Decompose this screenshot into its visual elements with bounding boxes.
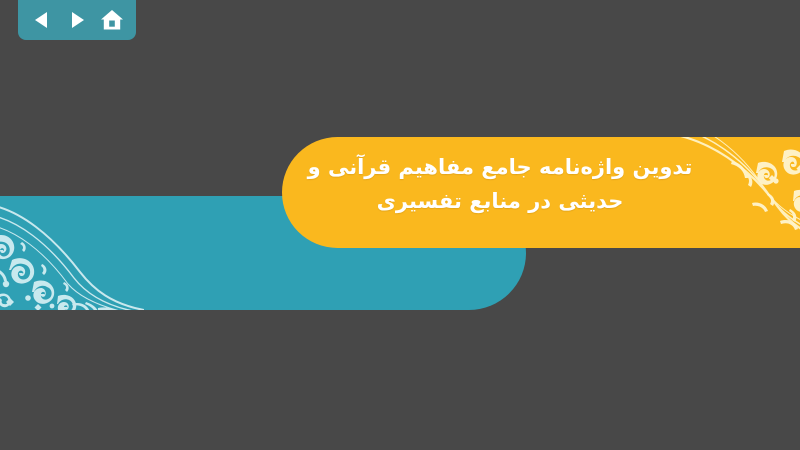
home-icon: [100, 9, 124, 31]
home-button[interactable]: [97, 7, 127, 33]
presentation-slide: تدوین واژه‌نامه جامع مفاهیم قرآنی و حدیث…: [0, 0, 800, 450]
triangle-right-icon: [67, 10, 87, 30]
triangle-left-icon: [32, 10, 52, 30]
slide-navigation-toolbar: [18, 0, 136, 40]
arabesque-corner-ornament-left: [0, 198, 144, 310]
previous-slide-button[interactable]: [27, 7, 57, 33]
next-slide-button[interactable]: [62, 7, 92, 33]
slide-title: تدوین واژه‌نامه جامع مفاهیم قرآنی و حدیث…: [300, 150, 700, 218]
slide-title-line-1: تدوین واژه‌نامه جامع مفاهیم قرآنی و: [300, 150, 700, 184]
slide-title-line-2: حدیثی در منابع تفسیری: [300, 184, 700, 218]
